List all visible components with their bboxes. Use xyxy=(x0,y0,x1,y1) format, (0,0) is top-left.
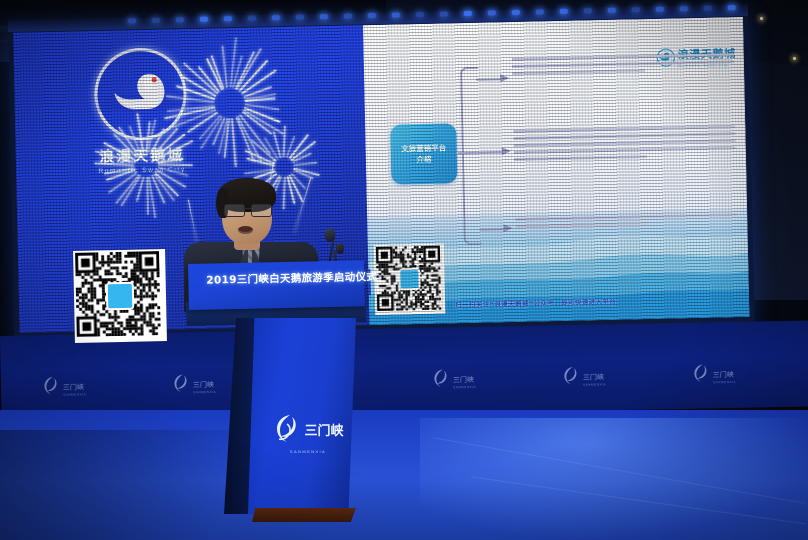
slide-text-line xyxy=(513,132,735,140)
led-edge-light xyxy=(536,9,544,14)
led-edge-light xyxy=(728,5,736,10)
led-edge-light xyxy=(656,7,664,12)
floor-light-glow xyxy=(420,418,808,540)
slide-text-line xyxy=(512,60,734,68)
led-edge-light xyxy=(200,17,208,22)
slide-text-line xyxy=(514,155,647,161)
led-edge-light xyxy=(704,6,712,11)
speaker-mouth xyxy=(238,226,253,234)
slide-text-line xyxy=(514,146,736,154)
podium-logo-subtext: SANMENXIA xyxy=(290,449,326,454)
qr-center-logo xyxy=(398,268,421,291)
led-edge-light xyxy=(392,12,400,17)
wall-swan-logo: 三门峡SANMENXIA xyxy=(691,362,736,385)
led-edge-light xyxy=(440,11,448,16)
led-edge-light xyxy=(464,11,472,16)
wall-swan-logo: 三门峡SANMENXIA xyxy=(41,374,86,397)
led-edge-light xyxy=(512,10,520,15)
led-edge-light xyxy=(272,15,280,20)
microphone-head xyxy=(325,228,335,242)
led-edge-light xyxy=(248,16,256,21)
spotlight xyxy=(793,57,796,60)
podium-base xyxy=(252,508,356,522)
qr-code-slide[interactable] xyxy=(374,244,446,316)
podium-logo: 三门峡 SANMENXIA xyxy=(268,404,348,462)
led-edge-light xyxy=(320,14,328,19)
slide-text-line xyxy=(514,139,736,147)
stage-scene: 浪漫天鹅城 Romantic Swan City xyxy=(0,0,808,540)
led-edge-light xyxy=(632,7,640,12)
arrow-head xyxy=(502,147,511,155)
glasses-icon xyxy=(224,204,272,216)
swan-emblem-icon xyxy=(109,65,172,122)
glasses-lens-left xyxy=(224,204,245,217)
wall-swan-logo: 三门峡SANMENXIA xyxy=(171,372,216,395)
led-edge-light xyxy=(680,6,688,11)
led-edge-light xyxy=(296,15,304,20)
diagram-center-box: 文旅营销平台 介绍 xyxy=(390,123,457,184)
led-edge-light xyxy=(224,16,232,21)
center-box-line2: 介绍 xyxy=(416,154,431,166)
slide-text-line xyxy=(512,69,645,75)
podium-banner-text: 2019三门峡白天鹅旅游季启动仪式 xyxy=(206,269,356,287)
led-edge-light xyxy=(344,13,352,18)
led-edge-light xyxy=(176,17,184,22)
led-edge-light xyxy=(488,10,496,15)
spotlight xyxy=(760,17,763,20)
led-edge-light xyxy=(560,9,568,14)
center-box-line1: 文旅营销平台 xyxy=(401,142,446,154)
podium-logo-text: 三门峡 xyxy=(304,420,343,439)
qr-center-logo xyxy=(106,282,134,310)
led-edge-light xyxy=(416,12,424,17)
microphone-head-2 xyxy=(336,243,344,254)
led-edge-light xyxy=(128,18,136,23)
swan-s-logo-icon xyxy=(272,412,302,446)
led-edge-light xyxy=(584,8,592,13)
wall-swan-logo: 三门峡SANMENXIA xyxy=(431,367,476,390)
led-edge-light xyxy=(608,8,616,13)
wall-swan-logo: 三门峡SANMENXIA xyxy=(561,364,606,387)
glasses-lens-right xyxy=(251,204,272,217)
presentation-slide: 浪漫天鹅城 Romantic Swan City 文旅营销平台 介绍 xyxy=(363,17,749,325)
slide-paragraph xyxy=(513,125,736,165)
qr-code-left[interactable] xyxy=(73,249,167,343)
podium-banner-panel: 2019三门峡白天鹅旅游季启动仪式 xyxy=(188,260,365,310)
led-edge-light xyxy=(368,13,376,18)
arrow-head xyxy=(500,74,509,82)
led-edge-light xyxy=(152,18,160,23)
